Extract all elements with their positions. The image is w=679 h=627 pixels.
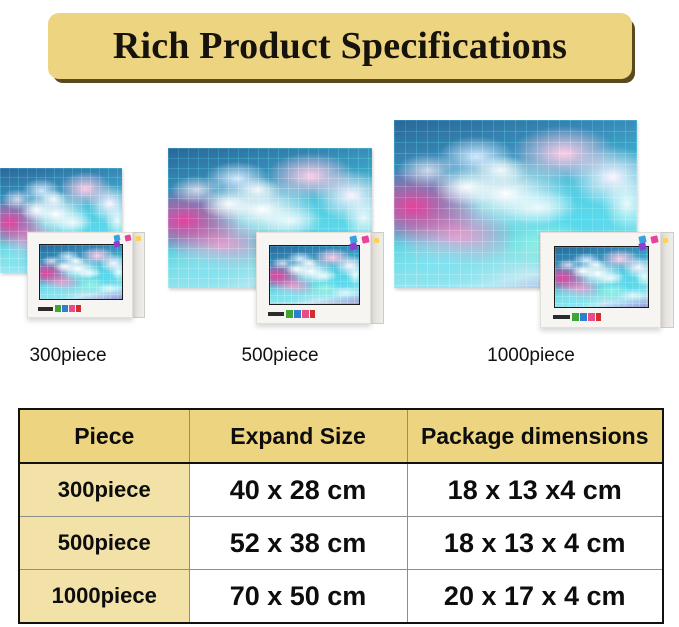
size-caption-1000: 1000piece — [436, 345, 626, 367]
table-row: 1000piece 70 x 50 cm 20 x 17 x 4 cm — [19, 570, 663, 624]
box-cover-artwork — [39, 244, 123, 300]
cell-package-dimensions: 18 x 13 x4 cm — [407, 463, 663, 517]
product-box-500 — [256, 232, 384, 324]
specifications-table: Piece Expand Size Package dimensions 300… — [18, 408, 664, 624]
cell-expand-size: 40 x 28 cm — [189, 463, 407, 517]
header-piece: Piece — [19, 409, 189, 463]
header-expand-size: Expand Size — [189, 409, 407, 463]
cell-piece: 500piece — [19, 517, 189, 570]
box-cover-artwork — [269, 245, 360, 305]
product-box-1000 — [540, 232, 674, 328]
scattered-puzzle-pieces-icon — [113, 235, 145, 247]
page-title: Rich Product Specifications — [113, 24, 567, 68]
size-caption-500: 500piece — [190, 345, 370, 367]
cell-package-dimensions: 18 x 13 x 4 cm — [407, 517, 663, 570]
product-group-500: 500piece — [168, 120, 388, 335]
product-box-300 — [27, 232, 145, 318]
box-logo-row — [553, 313, 601, 321]
cell-piece: 300piece — [19, 463, 189, 517]
box-logo-row — [38, 305, 81, 312]
product-group-1000: 1000piece — [394, 110, 674, 335]
scattered-puzzle-pieces-icon — [638, 236, 674, 250]
header-package-dimensions: Package dimensions — [407, 409, 663, 463]
brand-logo-icon — [572, 313, 601, 321]
barcode-icon — [268, 312, 284, 316]
scattered-puzzle-pieces-icon — [349, 236, 384, 250]
cell-package-dimensions: 20 x 17 x 4 cm — [407, 570, 663, 624]
table-row: 500piece 52 x 38 cm 18 x 13 x 4 cm — [19, 517, 663, 570]
table-row: 300piece 40 x 28 cm 18 x 13 x4 cm — [19, 463, 663, 517]
box-logo-row — [268, 310, 315, 318]
table-header-row: Piece Expand Size Package dimensions — [19, 409, 663, 463]
cloud-artwork — [555, 247, 648, 307]
barcode-icon — [553, 315, 570, 319]
cell-expand-size: 70 x 50 cm — [189, 570, 407, 624]
size-caption-300: 300piece — [0, 345, 148, 367]
product-group-300: 300piece — [0, 120, 160, 335]
cell-expand-size: 52 x 38 cm — [189, 517, 407, 570]
cloud-artwork — [40, 245, 122, 299]
cell-piece: 1000piece — [19, 570, 189, 624]
brand-logo-icon — [286, 310, 315, 318]
title-banner: Rich Product Specifications — [48, 13, 632, 79]
box-cover-artwork — [554, 246, 649, 308]
cloud-artwork — [270, 246, 359, 304]
barcode-icon — [38, 307, 53, 311]
brand-logo-icon — [55, 305, 81, 312]
